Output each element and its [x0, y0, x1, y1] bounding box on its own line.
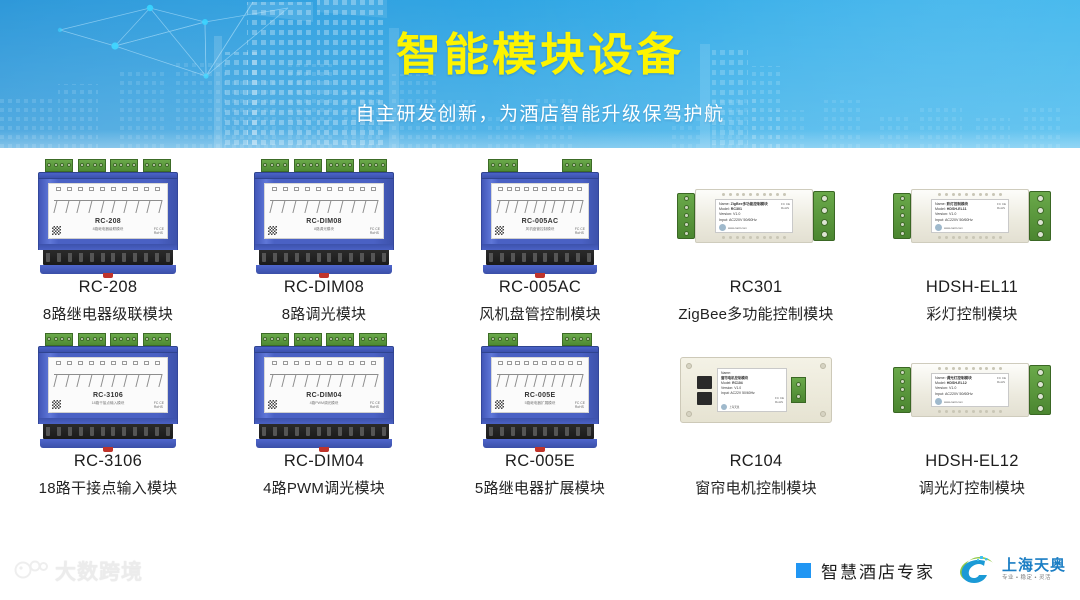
- page-footer: 大数跨境 智慧酒店专家 上海天奥 专业: [0, 548, 1080, 600]
- product-card[interactable]: RC-208 8路继电器级联模块 FC CERoHS RC-208 8路继电器级…: [0, 158, 216, 324]
- product-image: Name:窗帘电机控制模块Model: RC104Version: V1.0In…: [652, 336, 860, 444]
- product-card[interactable]: Name: 彩灯控制模块 Model: HDSH-EL11 Version: V…: [864, 158, 1080, 324]
- product-name: HDSH-EL11: [926, 278, 1018, 297]
- product-name: RC-208: [79, 278, 138, 297]
- product-card[interactable]: RC-DIM08 8路调光模块 FC CERoHS RC-DIM08 8路调光模…: [216, 158, 432, 324]
- product-description: 窗帘电机控制模块: [695, 477, 817, 498]
- product-card[interactable]: RC-005E 5路继电器扩展模块 FC CERoHS RC-005E 5路继电…: [432, 332, 648, 498]
- square-marker-icon: [796, 563, 811, 578]
- product-description: 8路继电器级联模块: [43, 303, 173, 324]
- product-description: 彩灯控制模块: [926, 303, 1017, 324]
- product-description: 风机盘管控制模块: [479, 303, 601, 324]
- brand-name: 上海天奥: [1002, 558, 1066, 573]
- product-name: RC301: [730, 278, 783, 297]
- product-description: ZigBee多功能控制模块: [678, 303, 833, 324]
- page-header: 智能模块设备 自主研发创新，为酒店智能升级保驾护航: [0, 0, 1080, 148]
- product-image: Name: 彩灯控制模块 Model: HDSH-EL11 Version: V…: [868, 162, 1076, 270]
- watermark-text: 大数跨境: [55, 556, 143, 586]
- product-name: RC-3106: [74, 452, 142, 471]
- product-description: 8路调光模块: [282, 303, 367, 324]
- product-grid: RC-208 8路继电器级联模块 FC CERoHS RC-208 8路继电器级…: [0, 158, 1080, 498]
- product-card[interactable]: Name:窗帘电机控制模块Model: RC104Version: V1.0In…: [648, 332, 864, 498]
- brand-slogan: 专业 • 稳定 • 灵活: [1002, 576, 1066, 582]
- footer-right: 智慧酒店专家 上海天奥 专业 • 稳定 • 灵活: [796, 554, 1066, 586]
- tagline-group: 智慧酒店专家: [796, 558, 935, 583]
- product-description: 5路继电器扩展模块: [475, 477, 605, 498]
- product-description: 4路PWM调光模块: [263, 477, 385, 498]
- product-card[interactable]: RC-DIM04 4路PWM调光模块 FC CERoHS RC-DIM04 4路…: [216, 332, 432, 498]
- watermark: 大数跨境: [14, 556, 143, 586]
- slide-root: 智能模块设备 自主研发创新，为酒店智能升级保驾护航 RC-208 8路继电器级联…: [0, 0, 1080, 600]
- product-name: RC-005E: [505, 452, 575, 471]
- product-image: RC-005E 5路继电器扩展模块 FC CERoHS: [436, 336, 644, 444]
- product-description: 18路干接点输入模块: [39, 477, 178, 498]
- product-name: RC-005AC: [499, 278, 581, 297]
- product-card[interactable]: Name: ZigBee多功能控制模块 Model: RC301 Version…: [648, 158, 864, 324]
- percent-smiley-icon: [14, 559, 48, 583]
- product-image: RC-DIM08 8路调光模块 FC CERoHS: [220, 162, 428, 270]
- product-name: RC-DIM08: [284, 278, 364, 297]
- tagline-text: 智慧酒店专家: [821, 558, 935, 583]
- product-card[interactable]: Name: 调光灯控制模块 Model: HDSH-EL12 Version: …: [864, 332, 1080, 498]
- product-name: RC-DIM04: [284, 452, 364, 471]
- product-image: RC-3106 18路干接点输入模块 FC CERoHS: [4, 336, 212, 444]
- page-subtitle: 自主研发创新，为酒店智能升级保驾护航: [0, 99, 1080, 126]
- product-image: RC-DIM04 4路PWM调光模块 FC CERoHS: [220, 336, 428, 444]
- brand-logo: 上海天奥 专业 • 稳定 • 灵活: [957, 554, 1066, 586]
- product-image: Name: ZigBee多功能控制模块 Model: RC301 Version…: [652, 162, 860, 270]
- product-image: Name: 调光灯控制模块 Model: HDSH-EL12 Version: …: [868, 336, 1076, 444]
- product-image: RC-005AC 风机盘管控制模块 FC CERoHS: [436, 162, 644, 270]
- product-name: HDSH-EL12: [925, 452, 1018, 471]
- product-name: RC104: [730, 452, 783, 471]
- product-card[interactable]: RC-3106 18路干接点输入模块 FC CERoHS RC-3106 18路…: [0, 332, 216, 498]
- product-card[interactable]: RC-005AC 风机盘管控制模块 FC CERoHS RC-005AC 风机盘…: [432, 158, 648, 324]
- product-description: 调光灯控制模块: [919, 477, 1025, 498]
- page-title: 智能模块设备: [0, 18, 1080, 83]
- c-swirl-logo-icon: [957, 554, 997, 586]
- product-image: RC-208 8路继电器级联模块 FC CERoHS: [4, 162, 212, 270]
